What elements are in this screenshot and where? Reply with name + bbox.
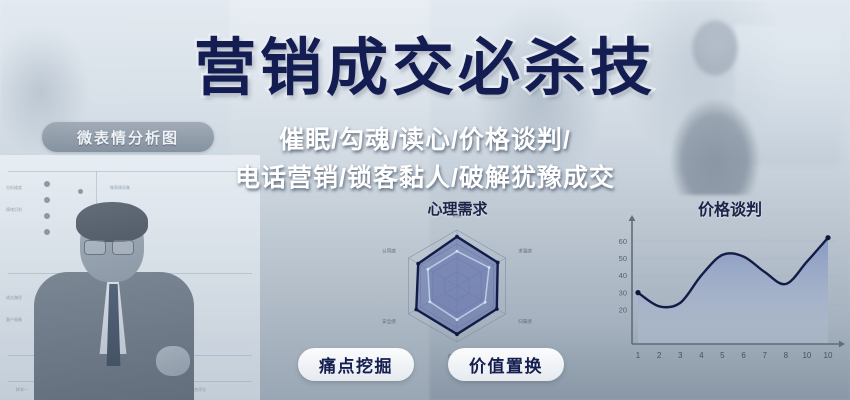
marketing-banner: 分析维度 情绪识别 成交路径 客户画像 微表情采集 行为判断 需求挖掘 样本一 … xyxy=(0,0,850,400)
svg-text:7: 7 xyxy=(762,351,767,360)
svg-text:40: 40 xyxy=(619,271,627,280)
svg-text:20: 20 xyxy=(619,306,627,315)
radar-chart-svg: 张扬求强感归属感自我实现安全感认同感 xyxy=(345,214,570,364)
pill-pain-point: 痛点挖掘 xyxy=(298,348,414,381)
page-title: 营销成交必杀技 xyxy=(155,38,695,100)
line-chart-svg: 6050403020 123456781010 xyxy=(600,214,845,382)
svg-text:50: 50 xyxy=(619,254,627,263)
svg-text:2: 2 xyxy=(657,351,662,360)
radar-chart: 心理需求 张扬求强感归属感自我实现安全感认同感 xyxy=(345,198,570,363)
svg-text:8: 8 xyxy=(784,351,789,360)
pill-pain-point-label: 痛点挖掘 xyxy=(319,352,393,377)
svg-text:10: 10 xyxy=(824,351,833,360)
svg-text:认同感: 认同感 xyxy=(382,247,396,254)
pill-value-exchange-label: 价值置换 xyxy=(469,352,543,377)
svg-text:1: 1 xyxy=(636,351,641,360)
svg-text:60: 60 xyxy=(619,237,627,246)
pill-value-exchange: 价值置换 xyxy=(448,348,564,381)
svg-text:30: 30 xyxy=(619,288,627,297)
line-chart: 价格谈判 6050403020 123456781010 xyxy=(600,196,845,386)
svg-text:6: 6 xyxy=(741,351,746,360)
svg-text:归属感: 归属感 xyxy=(518,318,532,325)
svg-text:求强感: 求强感 xyxy=(518,247,532,254)
subtitle-line-1: 催眠/勾魂/读心/价格谈判/ xyxy=(155,120,695,156)
svg-text:4: 4 xyxy=(699,351,704,360)
svg-text:安全感: 安全感 xyxy=(382,318,396,325)
svg-text:10: 10 xyxy=(802,351,811,360)
subtitle-line-2: 电话营销/锁客黏人/破解犹豫成交 xyxy=(155,158,695,194)
svg-text:3: 3 xyxy=(678,351,683,360)
svg-text:张扬: 张扬 xyxy=(452,214,462,219)
svg-text:5: 5 xyxy=(720,351,725,360)
